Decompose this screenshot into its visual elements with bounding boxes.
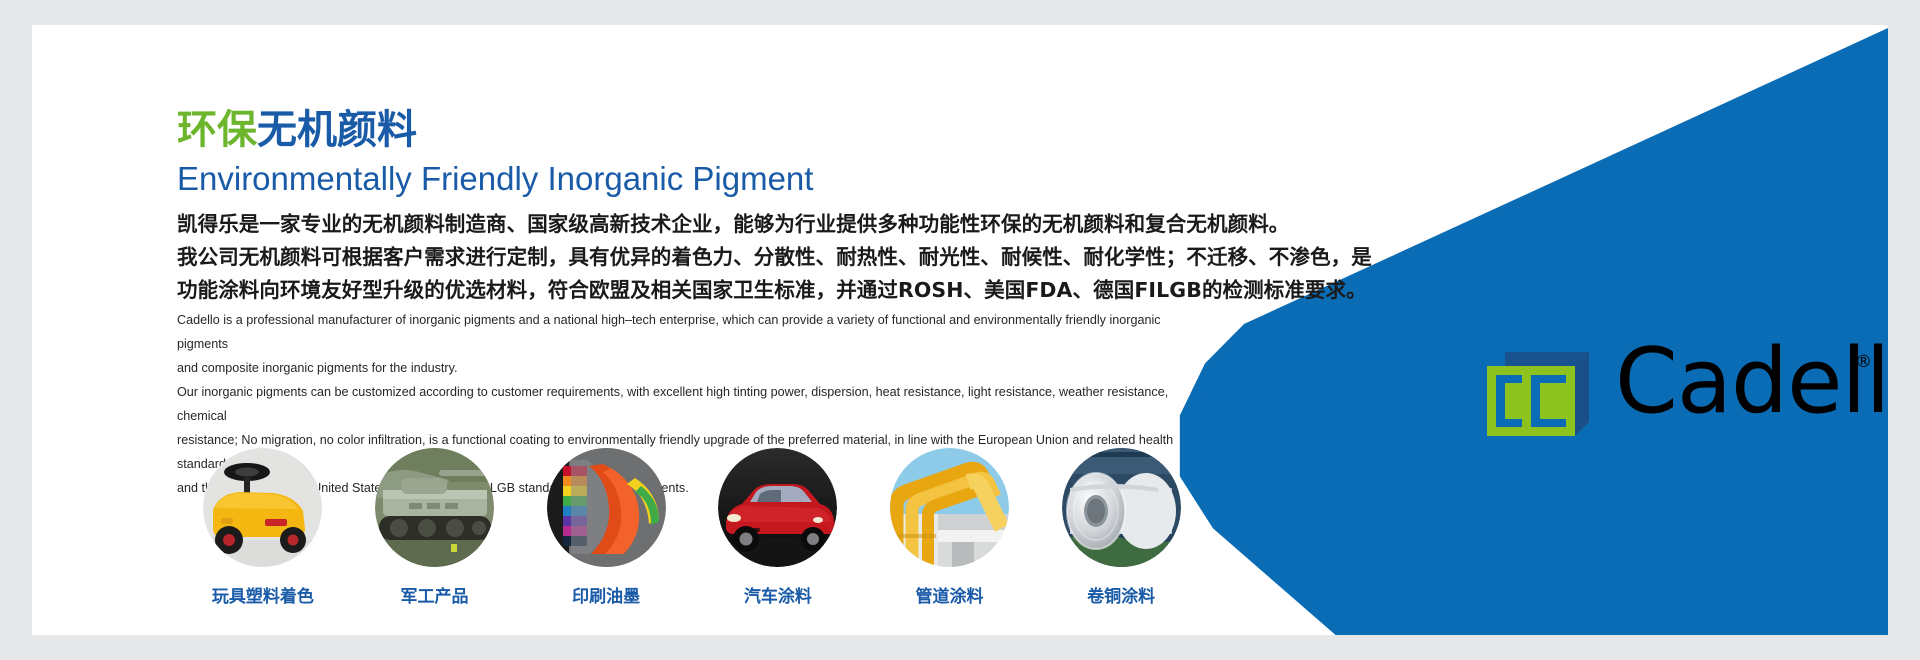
- logo-registered-mark: ®: [1855, 352, 1872, 372]
- application-item-printing-ink[interactable]: 印刷油墨: [520, 448, 692, 607]
- printing-ink-icon: [547, 448, 666, 567]
- body-en-p2-line-1: Our inorganic pigments can be customized…: [177, 380, 1207, 428]
- page-title-cn-green: 环保: [177, 107, 257, 153]
- application-item-toy-plastic[interactable]: 玩具塑料着色: [177, 448, 349, 607]
- body-cn-line-2: 我公司无机颜料可根据客户需求进行定制，具有优异的着色力、分散性、耐热性、耐光性、…: [177, 241, 1237, 274]
- cadello-logo: Cadello ®: [1487, 347, 1887, 452]
- application-label: 玩具塑料着色: [212, 582, 314, 607]
- application-label: 汽车涂料: [744, 582, 812, 607]
- brochure-page: Cadello ® 环保无机颜料 Environmentally Friendl…: [32, 25, 1888, 635]
- body-en-p1-line-1: Cadello is a professional manufacturer o…: [177, 308, 1207, 356]
- body-en-p1-line-2: and composite inorganic pigments for the…: [177, 356, 1207, 380]
- page-title-cn-blue: 无机颜料: [257, 107, 417, 153]
- application-item-pipeline-coating[interactable]: 管道涂料: [864, 448, 1036, 607]
- application-label: 印刷油墨: [572, 582, 640, 607]
- application-thumbnail-row: 玩具塑料着色: [177, 448, 1207, 607]
- toy-car-icon: [203, 448, 322, 567]
- body-cn-line-3: 功能涂料向环境友好型升级的优选材料，符合欧盟及相关国家卫生标准，并通过ROSH、…: [177, 274, 1237, 307]
- application-label: 管道涂料: [916, 582, 984, 607]
- page-title-cn: 环保无机颜料: [177, 107, 417, 153]
- logo-wordmark: Cadello: [1615, 337, 1888, 427]
- body-copy-cn: 凯得乐是一家专业的无机颜料制造商、国家级高新技术企业，能够为行业提供多种功能性环…: [177, 208, 1237, 307]
- body-cn-line-1: 凯得乐是一家专业的无机颜料制造商、国家级高新技术企业，能够为行业提供多种功能性环…: [177, 208, 1237, 241]
- body-en-paragraph-1: Cadello is a professional manufacturer o…: [177, 308, 1207, 380]
- military-tank-icon: [375, 448, 494, 567]
- application-label: 卷铜涂料: [1087, 582, 1155, 607]
- application-item-automotive-coating[interactable]: 汽车涂料: [692, 448, 864, 607]
- application-item-military[interactable]: 军工产品: [349, 448, 521, 607]
- cadello-logo-mark-icon: [1487, 352, 1589, 450]
- application-item-coil-coating[interactable]: 卷铜涂料: [1035, 448, 1207, 607]
- pipeline-icon: [890, 448, 1009, 567]
- page-title-en: Environmentally Friendly Inorganic Pigme…: [177, 160, 813, 198]
- application-label: 军工产品: [401, 582, 469, 607]
- steel-coil-icon: [1062, 448, 1181, 567]
- sports-car-icon: [718, 448, 837, 567]
